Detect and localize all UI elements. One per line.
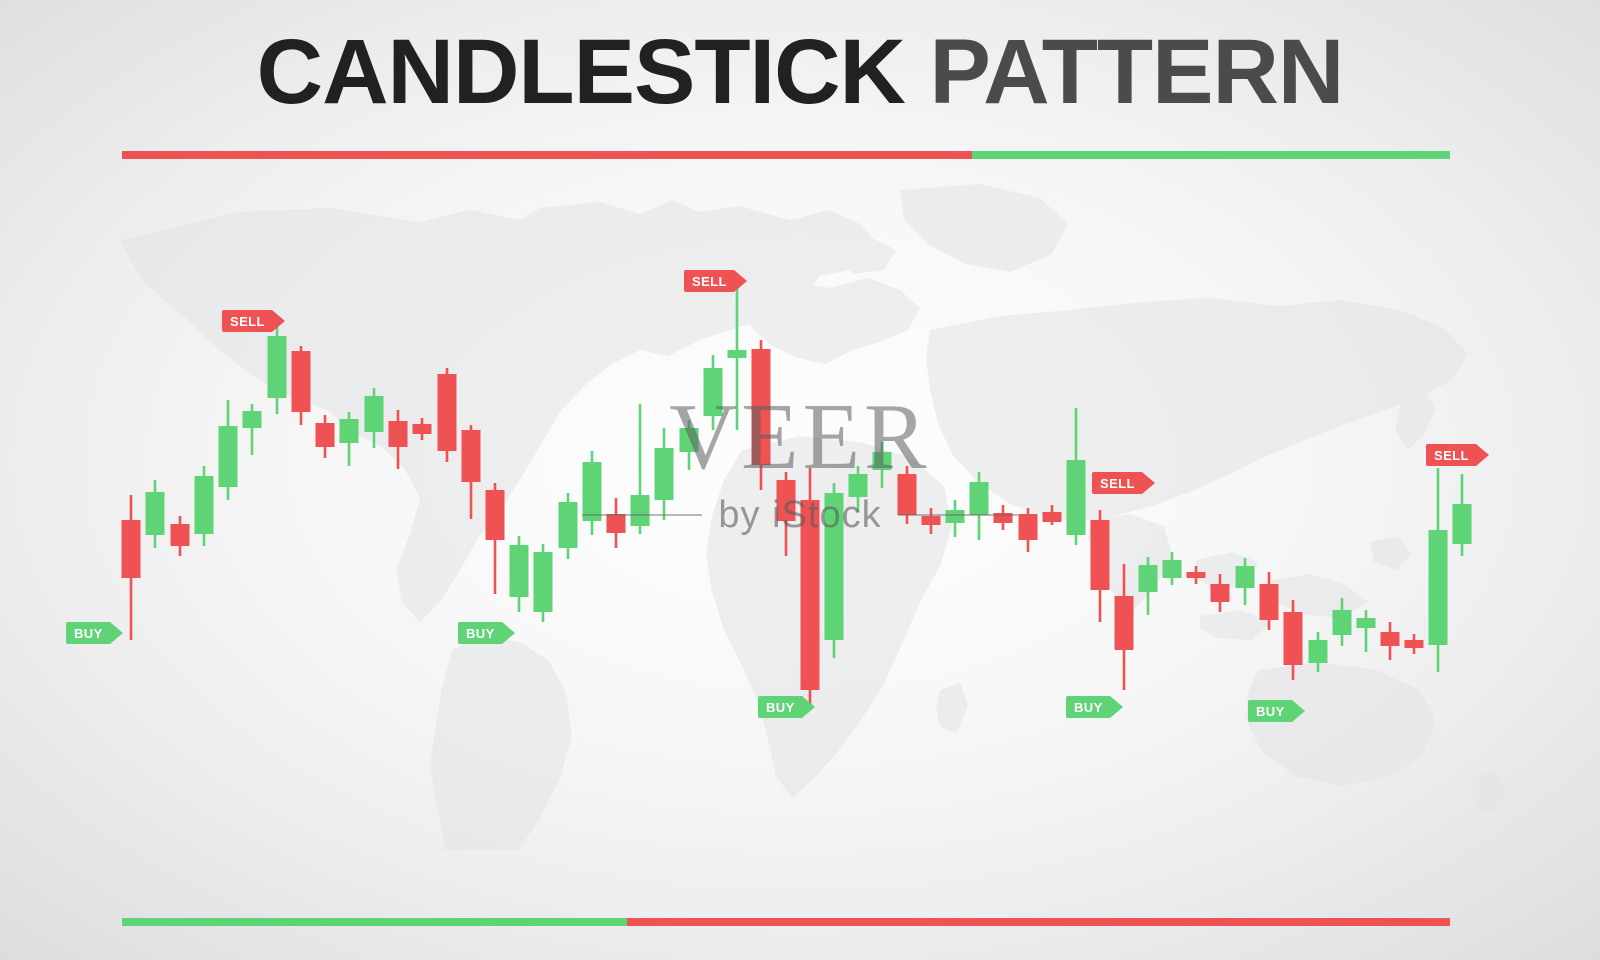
candle-body-up [728, 350, 747, 358]
candle-body-up [1357, 618, 1376, 628]
candle-body-up [583, 462, 602, 521]
candle-body-down [1043, 512, 1062, 522]
candle-body-down [801, 500, 820, 690]
candle-body-up [510, 545, 529, 597]
candle-body-up [534, 552, 553, 612]
signal-badge-sell[interactable]: SELL [1426, 444, 1476, 466]
candle-body-down [752, 349, 771, 465]
signal-badge-buy[interactable]: BUY [1066, 696, 1110, 718]
title-part-pattern: PATTERN [930, 21, 1344, 123]
candle-body-down [438, 374, 457, 451]
title-rule-red-segment [122, 151, 972, 159]
candle-body-down [1187, 572, 1206, 578]
signal-badge-sell[interactable]: SELL [1092, 472, 1142, 494]
signal-badge-label: BUY [1074, 701, 1103, 714]
candle-body-up [559, 502, 578, 548]
candle-body-down [1381, 632, 1400, 646]
candle-body-up [825, 493, 844, 640]
candle-body-up [704, 368, 723, 416]
candlestick-chart [0, 0, 1600, 960]
candle-body-down [1019, 514, 1038, 540]
signal-badge-sell[interactable]: SELL [222, 310, 272, 332]
candle-body-up [1163, 560, 1182, 578]
footer-divider-rule [122, 918, 1450, 926]
candle-body-down [389, 421, 408, 447]
candle-body-up [946, 510, 965, 523]
candle-body-down [994, 513, 1013, 523]
candle-body-down [607, 514, 626, 533]
signal-badge-label: SELL [1434, 449, 1469, 462]
signal-badge-buy[interactable]: BUY [458, 622, 502, 644]
footer-rule-red-segment [627, 918, 1450, 926]
candle-body-up [340, 419, 359, 443]
candle-wick [1365, 610, 1368, 652]
candle-body-down [922, 516, 941, 525]
signal-badge-label: SELL [1100, 477, 1135, 490]
candle-body-up [970, 482, 989, 515]
candle-body-up [1309, 640, 1328, 663]
signal-badge-label: BUY [466, 627, 495, 640]
candle-body-up [680, 428, 699, 452]
candle-body-down [777, 480, 796, 521]
signal-badge-label: BUY [1256, 705, 1285, 718]
candle-body-up [1429, 530, 1448, 645]
candle-body-up [655, 448, 674, 500]
signal-badge-buy[interactable]: BUY [758, 696, 802, 718]
candle-body-down [486, 490, 505, 540]
signal-badge-label: BUY [766, 701, 795, 714]
candle-body-down [1284, 612, 1303, 665]
candle-body-up [1236, 566, 1255, 588]
candle-body-down [171, 524, 190, 546]
candle-body-up [873, 452, 892, 470]
candle-body-down [898, 474, 917, 515]
candle-body-down [1115, 596, 1134, 650]
candle-body-down [413, 424, 432, 434]
title-rule-green-segment [972, 151, 1450, 159]
signal-badge-buy[interactable]: BUY [66, 622, 110, 644]
candle-body-down [1405, 640, 1424, 648]
candle-body-down [1091, 520, 1110, 590]
candle-body-down [122, 520, 141, 578]
signal-badge-buy[interactable]: BUY [1248, 700, 1292, 722]
candle-body-up [219, 426, 238, 487]
candle-body-down [1260, 584, 1279, 620]
candle-body-up [195, 476, 214, 534]
candles-group [122, 282, 1472, 710]
candle-body-down [462, 430, 481, 482]
candle-body-up [849, 474, 868, 497]
candle-body-up [243, 411, 262, 428]
candle-body-up [268, 336, 287, 398]
page-title: CANDLESTICK PATTERN [0, 24, 1600, 121]
title-text: CANDLESTICK PATTERN [0, 24, 1600, 121]
title-part-candlestick: CANDLESTICK [257, 21, 905, 123]
candle-body-up [1139, 565, 1158, 592]
candle-body-down [316, 423, 335, 447]
signal-badge-sell[interactable]: SELL [684, 270, 734, 292]
candle-body-down [1211, 584, 1230, 602]
candle-body-up [146, 492, 165, 535]
candle-body-down [292, 351, 311, 412]
candle-body-up [1333, 610, 1352, 635]
title-divider-rule [122, 151, 1450, 159]
signal-badge-label: SELL [692, 275, 727, 288]
candle-body-up [365, 396, 384, 432]
candle-body-up [631, 495, 650, 526]
signal-badge-label: BUY [74, 627, 103, 640]
candle-body-up [1453, 504, 1472, 544]
signal-badge-label: SELL [230, 315, 265, 328]
candle-body-up [1067, 460, 1086, 535]
footer-rule-green-segment [122, 918, 627, 926]
